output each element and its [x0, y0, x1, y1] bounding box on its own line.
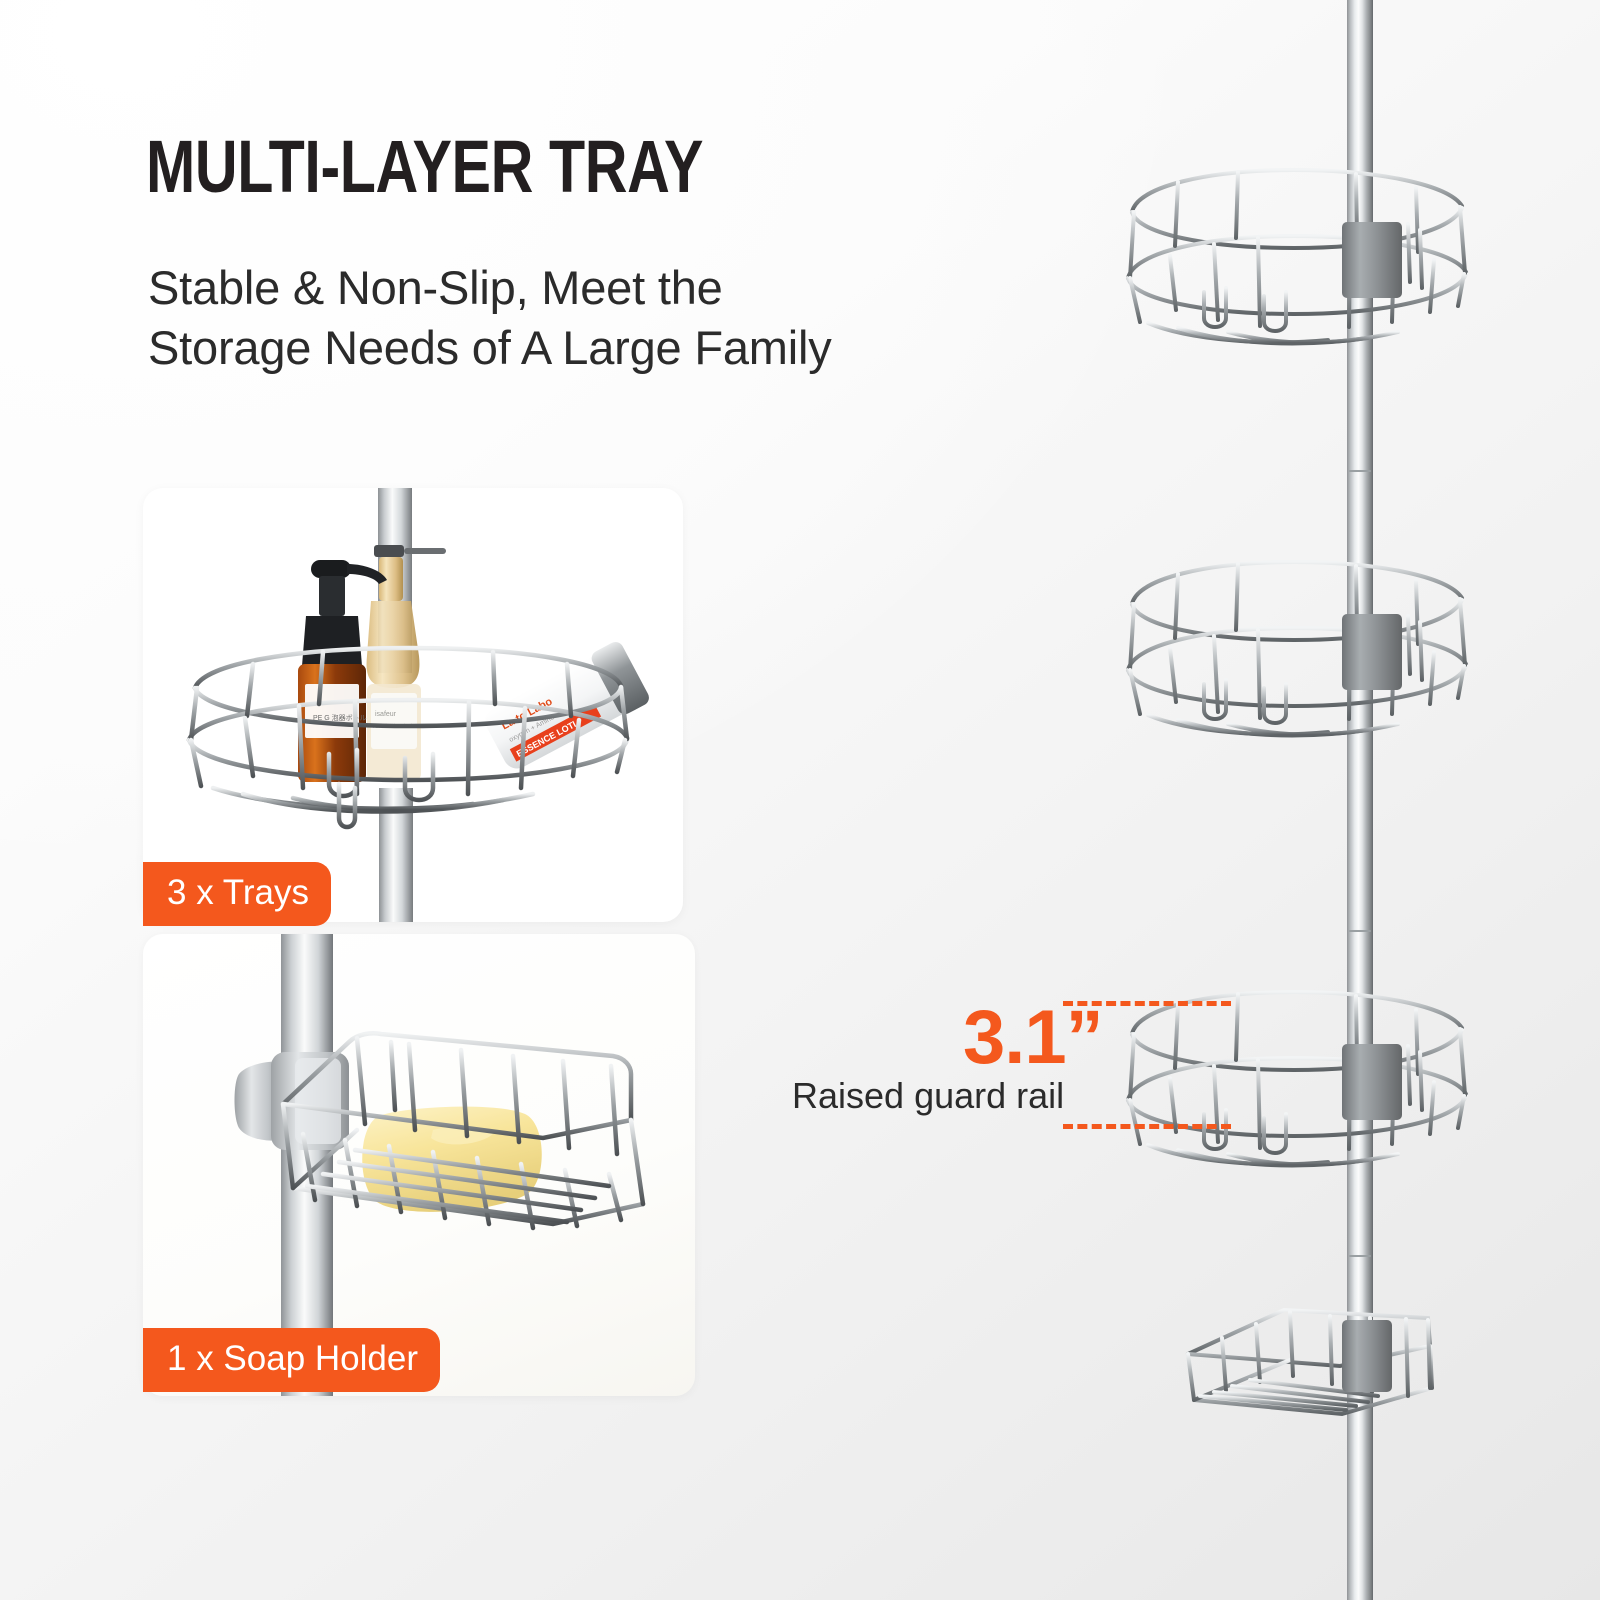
pole-joint-lower [1349, 1255, 1371, 1257]
measure-dashed-line-top [1063, 1001, 1231, 1006]
feature-card-trays: isafeur rom further hole PE G 泡器ボトル [143, 488, 683, 922]
feature-card-soap-holder [143, 934, 695, 1396]
product-feature-graphic: MULTI-LAYER TRAY Stable & Non-Slip, Meet… [0, 0, 1600, 1600]
pole-joint-middle [1349, 930, 1371, 932]
guard-rail-measurement: 3.1” [963, 1000, 1103, 1076]
subtitle-line-1: Stable & Non-Slip, Meet the [148, 261, 723, 314]
pole-joint-upper [1349, 470, 1371, 472]
subtitle-line-2: Storage Needs of A Large Family [148, 318, 1048, 378]
shelf-basket-soap-bottom [1180, 1296, 1460, 1456]
photo-soap-holder [143, 934, 695, 1396]
page-title: MULTI-LAYER TRAY [146, 128, 898, 206]
measure-dashed-line-bottom [1063, 1124, 1231, 1129]
svg-text:isafeur: isafeur [375, 711, 397, 718]
badge-trays-count: 3 x Trays [143, 862, 331, 926]
subtitle: Stable & Non-Slip, Meet the Storage Need… [148, 258, 1048, 378]
guard-rail-label: Raised guard rail [792, 1076, 1064, 1116]
badge-soap-holder-count: 1 x Soap Holder [143, 1328, 440, 1392]
shelf-basket-top [1118, 160, 1478, 350]
shelf-basket-second [1118, 552, 1478, 742]
photo-loaded-tray: isafeur rom further hole PE G 泡器ボトル [143, 488, 683, 922]
shelf-basket-third [1118, 982, 1478, 1172]
